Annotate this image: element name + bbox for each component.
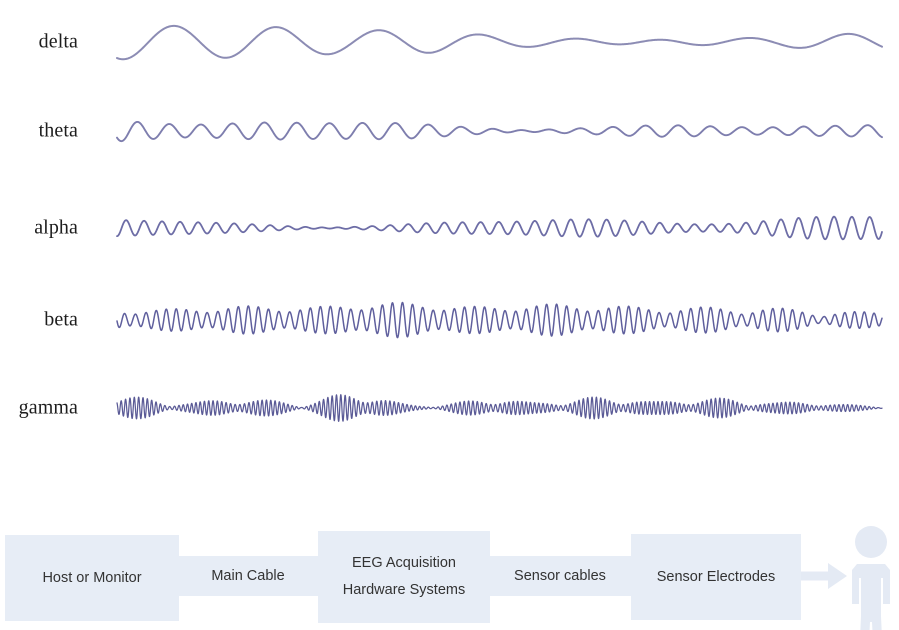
- band-label-beta: beta: [0, 309, 78, 332]
- eeg-trace-gamma: [117, 395, 882, 422]
- chain-node-label-line: Hardware Systems: [343, 577, 465, 604]
- chain-node-label: Host or Monitor: [42, 567, 141, 589]
- chain-node-label: EEG AcquisitionHardware Systems: [343, 550, 465, 604]
- chain-node-label: Sensor Electrodes: [657, 566, 775, 588]
- patient-person-icon: [852, 526, 890, 630]
- eeg-waveform-panel: deltathetaalphabetagamma: [0, 0, 899, 470]
- chain-node-label: Main Cable: [211, 565, 284, 587]
- band-label-delta: delta: [0, 31, 78, 54]
- eeg-trace-theta: [117, 122, 882, 141]
- band-label-alpha: alpha: [0, 217, 78, 240]
- eeg-trace-beta: [117, 303, 882, 338]
- eeg-waveform-chart: [0, 0, 899, 470]
- chain-node-label-line: Sensor Electrodes: [657, 566, 775, 588]
- chain-node-label-line: Host or Monitor: [42, 567, 141, 589]
- band-label-gamma: gamma: [0, 397, 78, 420]
- flow-arrow-icon: [801, 563, 847, 589]
- chain-node-label-line: Main Cable: [211, 565, 284, 587]
- chain-node-eeg-acquisition-hardware-systems[interactable]: EEG AcquisitionHardware Systems: [318, 531, 490, 623]
- chain-node-sensor-cables[interactable]: Sensor cables: [484, 556, 636, 596]
- chain-node-label-line: EEG Acquisition: [343, 550, 465, 577]
- eeg-trace-delta: [117, 26, 882, 59]
- chain-node-host-or-monitor[interactable]: Host or Monitor: [5, 535, 179, 621]
- eeg-trace-alpha: [117, 217, 882, 240]
- chain-node-sensor-electrodes[interactable]: Sensor Electrodes: [631, 534, 801, 620]
- eeg-acquisition-chain-diagram: Host or MonitorMain CableEEG Acquisition…: [0, 470, 899, 630]
- band-label-theta: theta: [0, 120, 78, 143]
- chain-node-main-cable[interactable]: Main Cable: [172, 556, 324, 596]
- chain-node-label: Sensor cables: [514, 565, 606, 587]
- chain-node-label-line: Sensor cables: [514, 565, 606, 587]
